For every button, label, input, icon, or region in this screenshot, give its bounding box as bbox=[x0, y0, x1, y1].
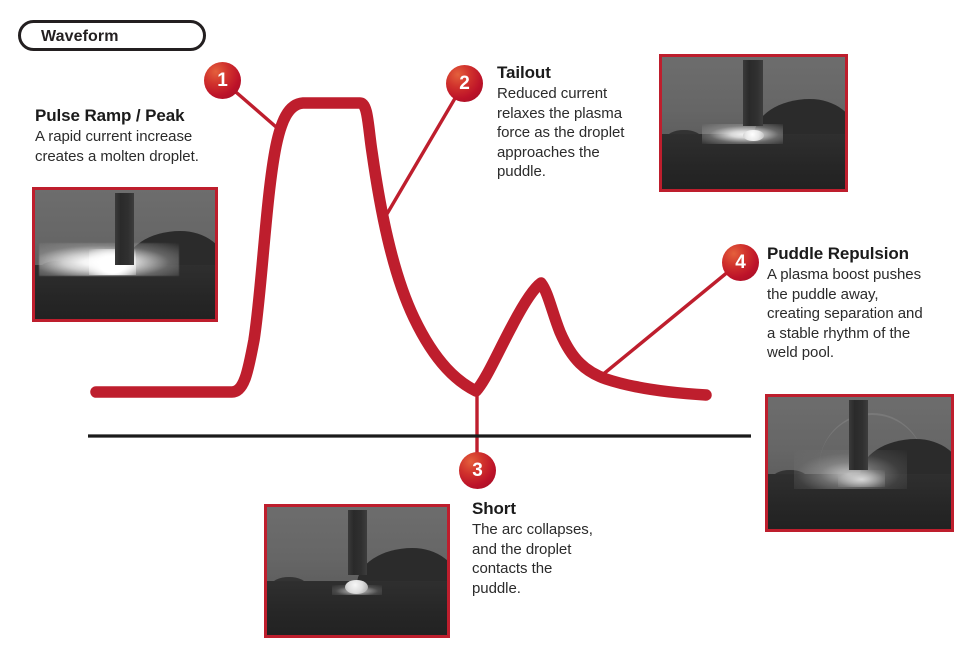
callout-title-2: Tailout bbox=[497, 62, 645, 83]
callout-body-2: Reduced current relaxes the plasma force… bbox=[497, 84, 645, 182]
callout-text-2: Tailout Reduced current relaxes the plas… bbox=[497, 62, 645, 182]
callout-photo-1 bbox=[32, 187, 218, 322]
callout-badge-4[interactable]: 4 bbox=[722, 244, 759, 281]
callout-photo-2-image bbox=[662, 57, 845, 189]
callout-body-4: A plasma boost pushes the puddle away, c… bbox=[767, 265, 932, 363]
callout-title-4: Puddle Repulsion bbox=[767, 243, 932, 264]
callout-badge-1[interactable]: 1 bbox=[204, 62, 241, 99]
callout-body-1: A rapid current increase creates a molte… bbox=[35, 127, 235, 166]
waveform-infographic: Waveform 1 Pulse Ramp / Peak A rapid cur… bbox=[0, 0, 978, 671]
leader-line-4 bbox=[601, 262, 740, 376]
callout-text-3: Short The arc collapses, and the droplet… bbox=[472, 498, 604, 598]
electrode-wire bbox=[348, 510, 367, 575]
callout-badge-3-number: 3 bbox=[459, 452, 496, 489]
callout-title-1: Pulse Ramp / Peak bbox=[35, 105, 235, 126]
callout-badge-4-number: 4 bbox=[722, 244, 759, 281]
electrode-wire bbox=[743, 60, 762, 126]
callout-photo-4 bbox=[765, 394, 954, 532]
callout-text-4: Puddle Repulsion A plasma boost pushes t… bbox=[767, 243, 932, 363]
molten-droplet bbox=[345, 580, 368, 594]
callout-photo-4-image bbox=[768, 397, 951, 529]
callout-photo-1-image bbox=[35, 190, 215, 319]
callout-badge-2-number: 2 bbox=[446, 65, 483, 102]
callout-body-3: The arc collapses, and the droplet conta… bbox=[472, 520, 604, 598]
electrode-wire bbox=[115, 193, 134, 265]
callout-badge-3[interactable]: 3 bbox=[459, 452, 496, 489]
callout-title-3: Short bbox=[472, 498, 604, 519]
callout-photo-3 bbox=[264, 504, 450, 638]
callout-text-1: Pulse Ramp / Peak A rapid current increa… bbox=[35, 105, 235, 166]
callout-photo-2 bbox=[659, 54, 848, 192]
leader-line-2 bbox=[384, 83, 464, 219]
callout-badge-1-number: 1 bbox=[204, 62, 241, 99]
electrode-wire bbox=[849, 400, 868, 470]
callout-photo-3-image bbox=[267, 507, 447, 635]
arc-glow-core bbox=[838, 470, 886, 487]
callout-badge-2[interactable]: 2 bbox=[446, 65, 483, 102]
